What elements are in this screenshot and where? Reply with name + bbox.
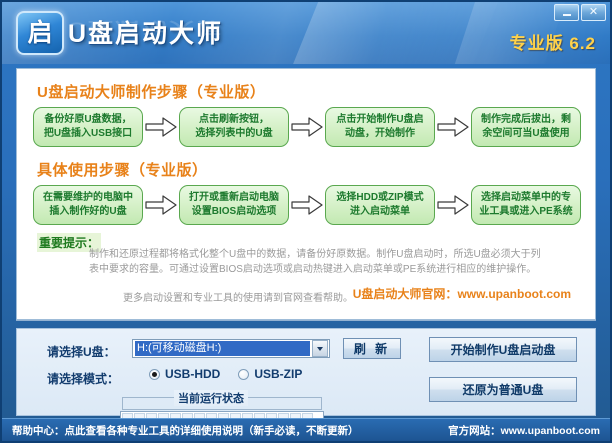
arrow-right-icon <box>143 185 179 225</box>
chevron-down-icon[interactable] <box>312 340 328 357</box>
footer-official-site[interactable]: 官方网站：www.upanboot.com <box>448 423 600 438</box>
step-line-2: 业工具或进入PE系统 <box>479 205 572 219</box>
radio-usb-zip-label: USB-ZIP <box>254 367 302 381</box>
minimize-button[interactable] <box>554 4 579 21</box>
usb-disk-selected-value: H:(可移动磁盘H:) <box>135 341 310 356</box>
app-title: U盘启动大师 <box>68 14 223 50</box>
section-title-use-steps: 具体使用步骤（专业版） <box>37 159 208 180</box>
refresh-button[interactable]: 刷 新 <box>343 338 401 359</box>
step-line-2: 把U盘插入USB接口 <box>44 127 132 141</box>
radio-usb-hdd[interactable]: USB-HDD <box>149 367 220 381</box>
application-window: 启 U盘启动大师 U盘启动大师 专业版 6.2 ✕ U盘启动大师制作步骤（专业版… <box>0 0 612 443</box>
notice-line-2: 表中要求的容量。可通过设置BIOS启动选项或启动热键进入启动菜单或PE系统进行相… <box>89 262 585 277</box>
usb-disk-select[interactable]: H:(可移动磁盘H:) <box>132 339 330 358</box>
mode-select-label: 请选择模式： <box>47 370 119 387</box>
step-box: 选择启动菜单中的专 业工具或进入PE系统 <box>471 185 581 225</box>
instructions-panel: U盘启动大师制作步骤（专业版） 备份好原U盘数据， 把U盘插入USB接口 点击刷… <box>16 68 596 320</box>
titlebar-sheen-decoration <box>274 2 511 64</box>
disk-select-label: 请选择U盘： <box>47 343 116 360</box>
step-line-1: 点击刷新按钮， <box>199 113 269 127</box>
radio-usb-hdd-label: USB-HDD <box>165 367 220 381</box>
step-line-1: 制作完成后拔出，剩 <box>481 113 571 127</box>
official-site-label: U盘启动大师官网： <box>353 287 458 301</box>
important-notice-text: 制作和还原过程都将格式化整个U盘中的数据，请备份好原数据。制作U盘启动时，所选U… <box>89 247 585 277</box>
use-steps-row: 在需要维护的电脑中 插入制作好的U盘 打开或重新启动电脑 设置BIOS启动选项 … <box>33 185 581 225</box>
arrow-right-icon <box>143 107 179 147</box>
step-line-2: 设置BIOS启动选项 <box>192 205 276 219</box>
arrow-right-icon <box>435 185 471 225</box>
arrow-right-icon <box>289 107 325 147</box>
minimize-icon <box>563 14 571 16</box>
step-line-2: 插入制作好的U盘 <box>49 205 126 219</box>
title-bar: 启 U盘启动大师 U盘启动大师 专业版 6.2 ✕ <box>2 2 610 64</box>
step-box: 打开或重新启动电脑 设置BIOS启动选项 <box>179 185 289 225</box>
mode-radio-group: USB-HDD USB-ZIP <box>149 367 302 381</box>
step-line-1: 点击开始制作U盘启 <box>336 113 423 127</box>
version-label: 专业版 6.2 <box>510 29 596 54</box>
step-line-1: 备份好原U盘数据， <box>44 113 131 127</box>
step-box: 选择HDD或ZIP模式 进入启动菜单 <box>325 185 435 225</box>
radio-usb-hdd-indicator <box>149 369 160 380</box>
radio-usb-zip[interactable]: USB-ZIP <box>238 367 302 381</box>
status-bar: 帮助中心：点此查看各种专业工具的详细使用说明（新手必读，不断更新） 官方网站：w… <box>2 418 610 441</box>
control-panel: 请选择U盘： H:(可移动磁盘H:) 刷 新 开始制作U盘启动盘 还原为普通U盘… <box>16 328 596 416</box>
notice-more-help-text: 更多启动设置和专业工具的使用请到官网查看帮助。 <box>123 289 353 304</box>
official-site-url[interactable]: www.upanboot.com <box>457 287 571 301</box>
step-box: 点击开始制作U盘启 动盘，开始制作 <box>325 107 435 147</box>
step-line-1: 选择启动菜单中的专 <box>481 191 571 205</box>
step-line-1: 选择HDD或ZIP模式 <box>336 191 423 205</box>
step-box: 备份好原U盘数据， 把U盘插入USB接口 <box>33 107 143 147</box>
help-center-link[interactable]: 帮助中心：点此查看各种专业工具的详细使用说明（新手必读，不断更新） <box>12 423 359 438</box>
step-line-1: 打开或重新启动电脑 <box>189 191 279 205</box>
status-caption: 当前运行状态 <box>174 390 248 406</box>
step-box: 在需要维护的电脑中 插入制作好的U盘 <box>33 185 143 225</box>
official-site-line[interactable]: U盘启动大师官网：www.upanboot.com <box>353 285 571 302</box>
close-button[interactable]: ✕ <box>581 4 606 21</box>
notice-line-1: 制作和还原过程都将格式化整个U盘中的数据，请备份好原数据。制作U盘启动时，所选U… <box>89 247 585 262</box>
arrow-right-icon <box>289 185 325 225</box>
restore-normal-disk-button[interactable]: 还原为普通U盘 <box>429 377 577 402</box>
step-box: 制作完成后拔出，剩 余空间可当U盘使用 <box>471 107 581 147</box>
step-box: 点击刷新按钮， 选择列表中的U盘 <box>179 107 289 147</box>
arrow-right-icon <box>435 107 471 147</box>
app-logo-icon: 启 <box>16 11 64 55</box>
status-group-box: 当前运行状态 <box>122 393 322 411</box>
step-line-2: 进入启动菜单 <box>350 205 410 219</box>
step-line-2: 余空间可当U盘使用 <box>482 127 569 141</box>
make-boot-disk-button[interactable]: 开始制作U盘启动盘 <box>429 337 577 362</box>
window-controls: ✕ <box>554 4 606 21</box>
step-line-2: 选择列表中的U盘 <box>195 127 272 141</box>
radio-usb-zip-indicator <box>238 369 249 380</box>
step-line-2: 动盘，开始制作 <box>345 127 415 141</box>
step-line-1: 在需要维护的电脑中 <box>43 191 133 205</box>
section-title-make-steps: U盘启动大师制作步骤（专业版） <box>37 81 265 102</box>
make-steps-row: 备份好原U盘数据， 把U盘插入USB接口 点击刷新按钮， 选择列表中的U盘 点击… <box>33 107 581 147</box>
